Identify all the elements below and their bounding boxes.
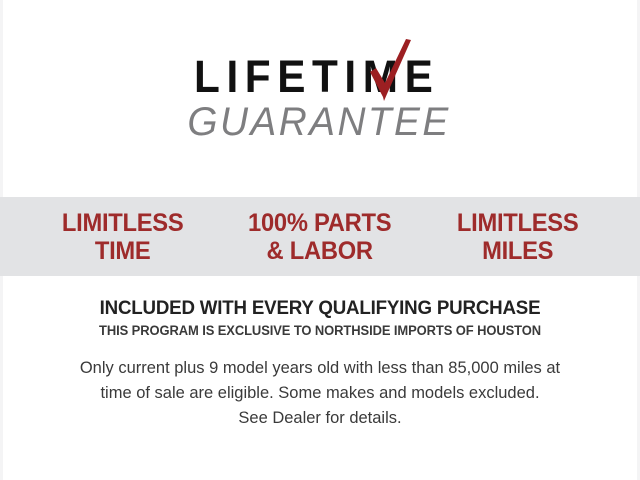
info-block: INCLUDED WITH EVERY QUALIFYING PURCHASE …	[0, 296, 640, 430]
info-subheadline: THIS PROGRAM IS EXCLUSIVE TO NORTHSIDE I…	[13, 321, 627, 341]
fineprint-line-3: See Dealer for details.	[10, 405, 631, 430]
benefit-parts-line2: & LABOR	[226, 237, 413, 265]
benefit-band: LIMITLESS TIME 100% PARTS & LABOR LIMITL…	[0, 197, 640, 276]
benefit-time-line2: TIME	[29, 237, 216, 265]
benefit-column-parts-labor: 100% PARTS & LABOR	[226, 209, 413, 265]
benefit-column-time: LIMITLESS TIME	[29, 209, 216, 265]
logo-block: LIFETIME GUARANTEE	[0, 52, 640, 144]
benefit-parts-line1: 100% PARTS	[248, 209, 391, 237]
fineprint-line-2: time of sale are eligible. Some makes an…	[10, 380, 631, 405]
fineprint-line-1: Only current plus 9 model years old with…	[10, 355, 631, 380]
logo-lifetime-wrap: LIFETIME	[186, 52, 454, 102]
lifetime-guarantee-poster: LIFETIME GUARANTEE LIMITLESS TIME 100% P…	[0, 0, 640, 480]
info-headline: INCLUDED WITH EVERY QUALIFYING PURCHASE	[13, 296, 627, 320]
benefit-time-line1: LIMITLESS	[62, 209, 183, 237]
logo-secondary-text: GUARANTEE	[10, 100, 631, 144]
benefit-column-miles: LIMITLESS MILES	[424, 209, 611, 265]
benefit-miles-line2: MILES	[424, 237, 611, 265]
benefit-miles-line1: LIMITLESS	[457, 209, 578, 237]
logo-primary-text: LIFETIME	[194, 52, 446, 102]
info-fineprint: Only current plus 9 model years old with…	[10, 355, 631, 430]
